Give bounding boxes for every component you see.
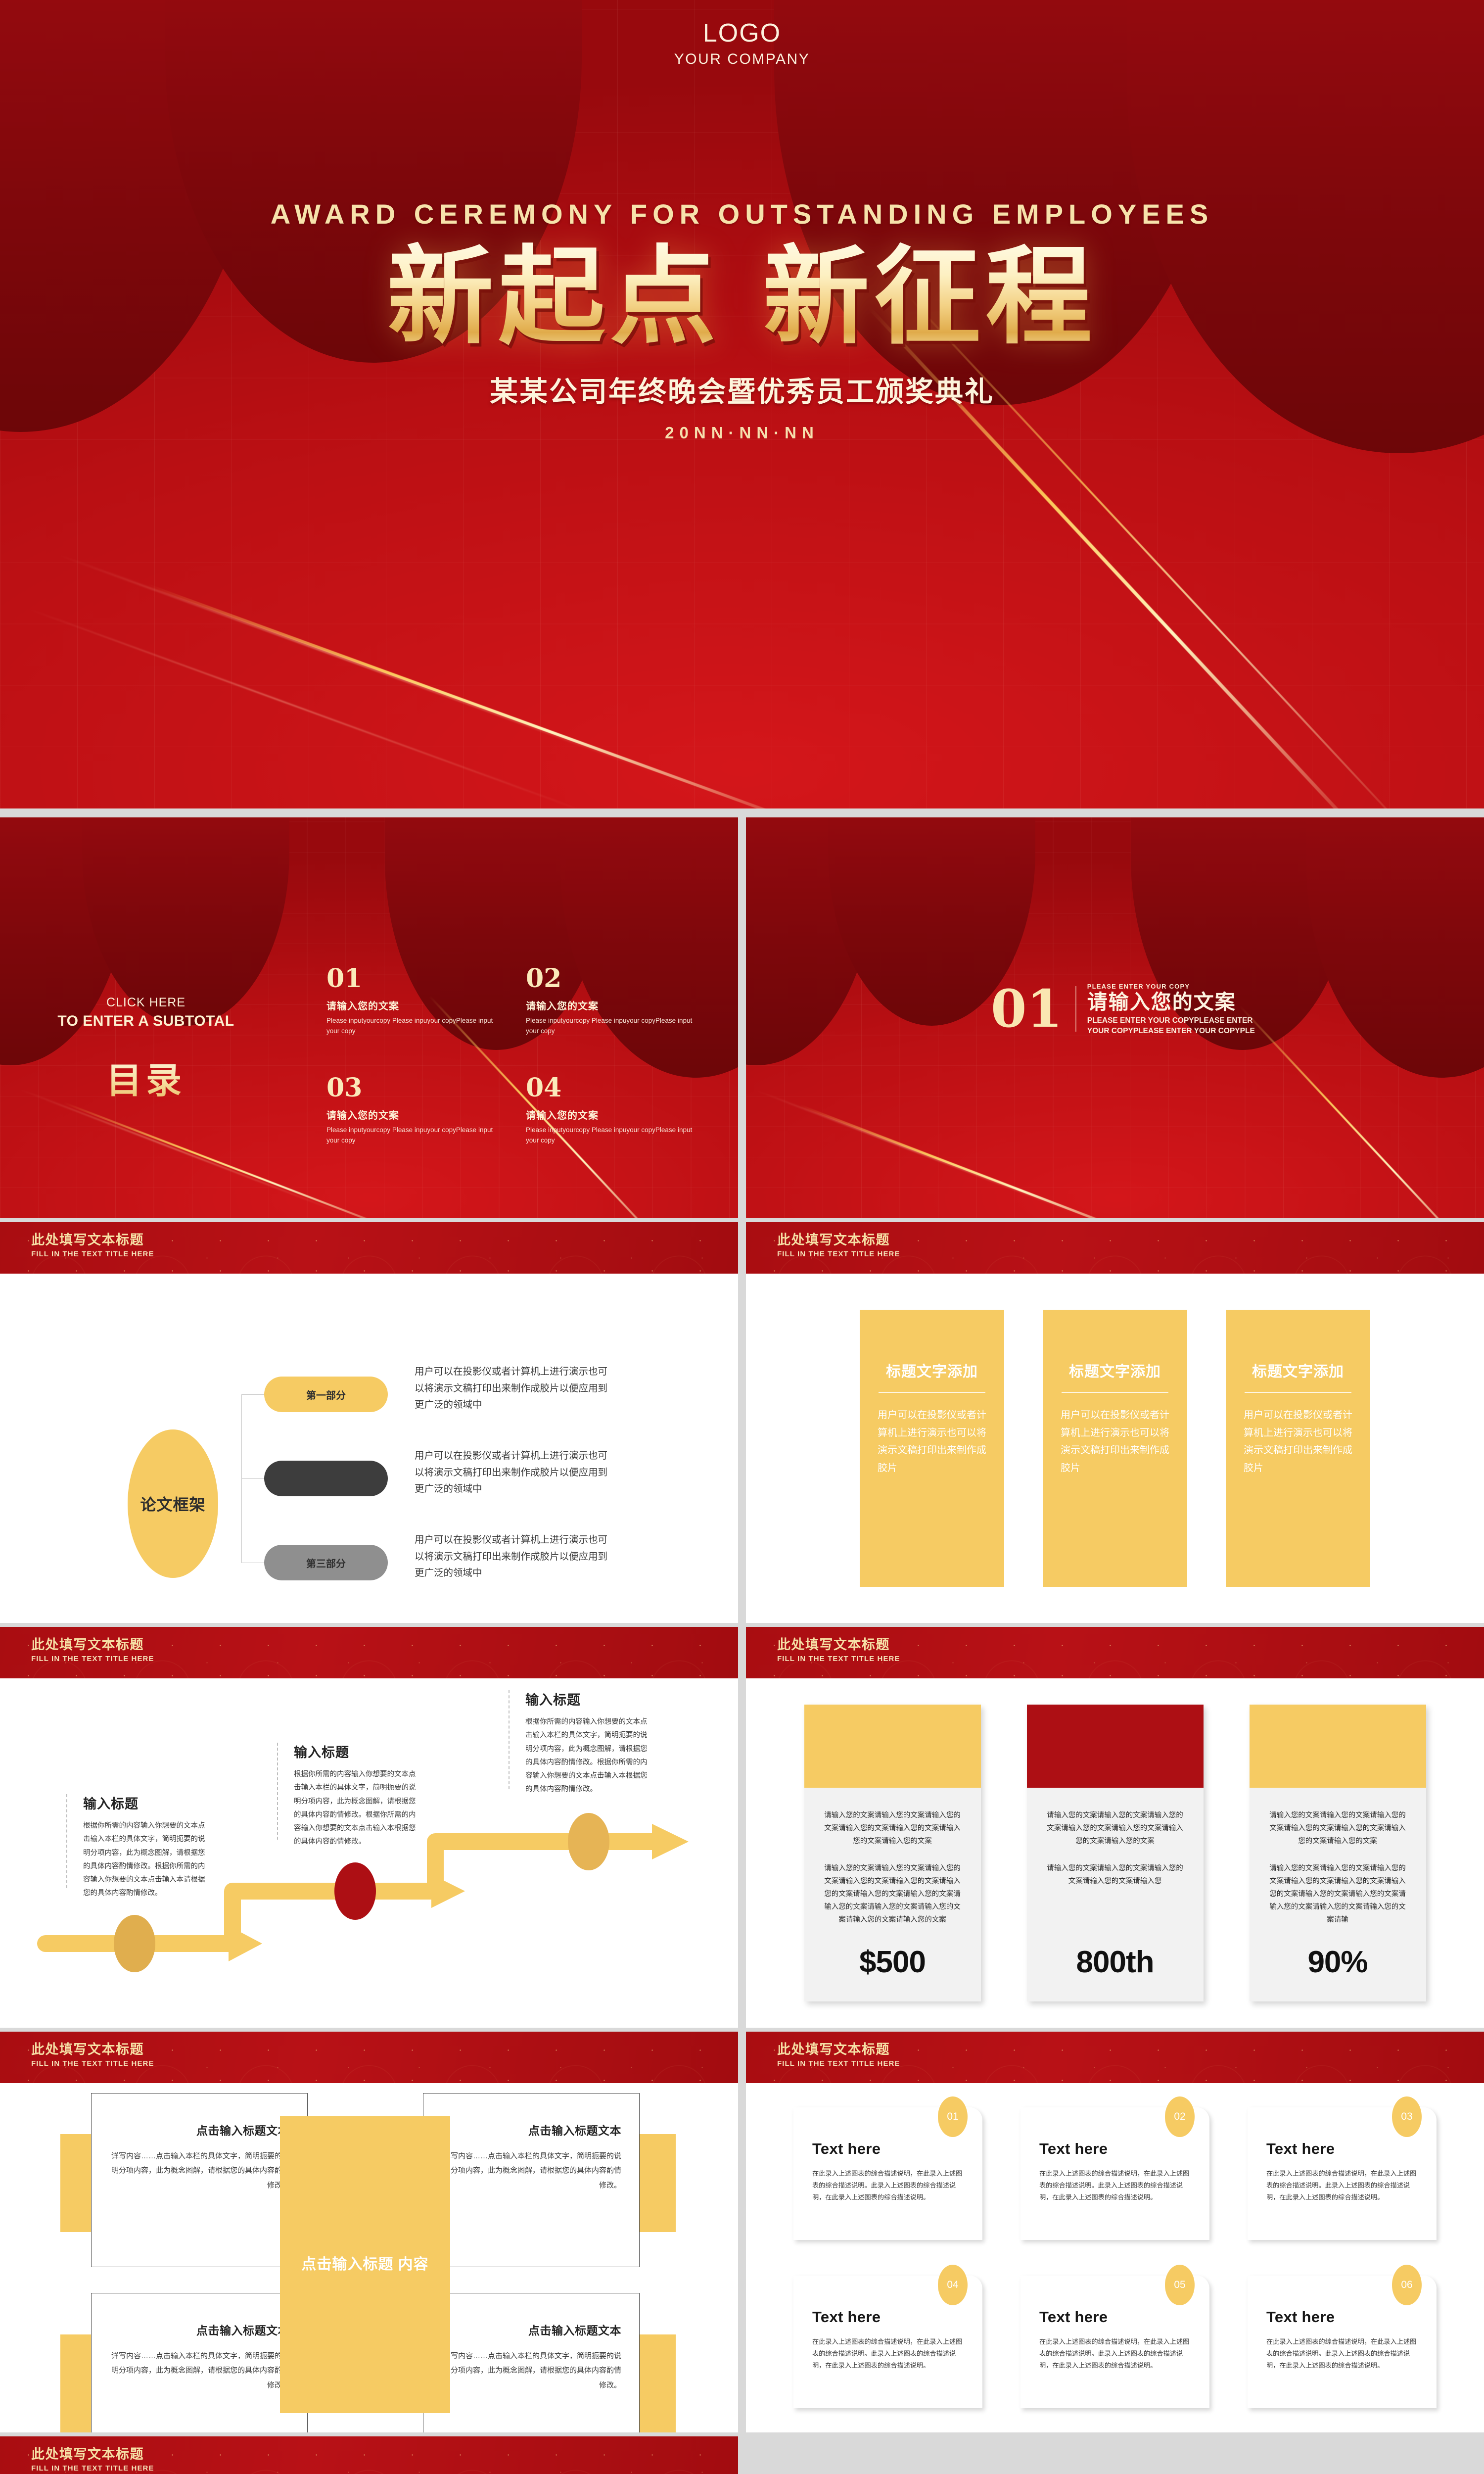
content-header-text: 此处填写文本标题 FILL IN THE TEXT TITLE HERE (31, 1233, 154, 1258)
stat-card-row: 请输入您的文案请输入您的文案请输入您的文案请输入您的文案请输入您的文案请输入您的… (746, 1678, 1484, 2028)
quad-box-body: 详写内容……点击输入本栏的具体文字，简明扼要的说明分项内容，此为概念图解，请根据… (441, 2349, 621, 2392)
quad-box-inner: 点击输入标题文本 详写内容……点击输入本栏的具体文字，简明扼要的说明分项内容，此… (92, 2093, 307, 2267)
stat-card[interactable]: 请输入您的文案请输入您的文案请输入您的文案请输入您的文案请输入您的文案请输入您的… (1027, 1705, 1204, 2001)
toc-item-body: Please inputyourcopy Please inpuyour cop… (326, 1125, 503, 1146)
content-header-text: 此处填写文本标题 FILL IN THE TEXT TITLE HERE (31, 2043, 154, 2068)
step-body: 根据你所需的内容输入你想要的文本点击输入本栏的具体文字，简明扼要的说明分项内容，… (294, 1768, 420, 1849)
step-divider (277, 1743, 278, 1840)
framework-branch-label[interactable]: 第三部分 (264, 1545, 388, 1580)
logo-block: LOGO YOUR COMPANY (0, 20, 1484, 68)
header-title-cn: 此处填写文本标题 (31, 1233, 154, 1248)
content-header-text: 此处填写文本标题 FILL IN THE TEXT TITLE HERE (777, 1233, 900, 1258)
stat-card-cap (1027, 1705, 1204, 1788)
stat-card-body: 请输入您的文案请输入您的文案请输入您的文案请输入您的文案请输入您的文案请输入您的… (1027, 1788, 1204, 1945)
header-title-cn: 此处填写文本标题 (777, 1233, 900, 1248)
quad-box[interactable]: 点击输入标题文本 详写内容……点击输入本栏的具体文字，简明扼要的说明分项内容，此… (91, 2293, 308, 2432)
six-card-grid: 01 Text here 在此录入上述图表的综合描述说明，在此录入上述图表的综合… (746, 2083, 1484, 2432)
quad-box-inner: 点击输入标题文本 详写内容……点击输入本栏的具体文字，简明扼要的说明分项内容，此… (423, 2093, 639, 2267)
slide-stats: 此处填写文本标题 FILL IN THE TEXT TITLE HERE 请输入… (746, 1627, 1484, 2028)
content-header: 此处填写文本标题 FILL IN THE TEXT TITLE HERE (0, 1627, 738, 1678)
quad-box-heading: 点击输入标题文本 (441, 2321, 621, 2338)
step-item[interactable]: 输入标题 根据你所需的内容输入你想要的文本点击输入本栏的具体文字，简明扼要的说明… (83, 1793, 210, 1901)
stat-card-value: $500 (804, 1945, 981, 2001)
toc-item[interactable]: 02 请输入您的文案 Please inputyourcopy Please i… (526, 966, 702, 1037)
toc-item-heading: 请输入您的文案 (326, 998, 503, 1012)
step-body: 根据你所需的内容输入你想要的文本点击输入本栏的具体文字，简明扼要的说明分项内容，… (525, 1715, 652, 1797)
step-heading: 输入标题 (83, 1793, 210, 1812)
framework-center[interactable]: 论文框架 (128, 1429, 218, 1578)
title-headline: 新起点 新征程 (0, 237, 1484, 356)
header-title-en: FILL IN THE TEXT TITLE HERE (31, 2059, 154, 2068)
divider-row: 01 PLEASE ENTER YOUR COPY 请输入您的文案 PLEASE… (991, 982, 1275, 1036)
toc-item[interactable]: 04 请输入您的文案 Please inputyourcopy Please i… (526, 1075, 702, 1146)
stat-card-p2: 请输入您的文案请输入您的文案请输入您的文案请输入您的文案请输入您的文案请输入您的… (1266, 1862, 1409, 1926)
quad-box-inner: 点击输入标题文本 详写内容……点击输入本栏的具体文字，简明扼要的说明分项内容，此… (423, 2293, 639, 2432)
title-block: AWARD CEREMONY FOR OUTSTANDING EMPLOYEES… (0, 198, 1484, 442)
stat-card-body: 请输入您的文案请输入您的文案请输入您的文案请输入您的文案请输入您的文案请输入您的… (804, 1788, 981, 1945)
header-title-en: FILL IN THE TEXT TITLE HERE (777, 1250, 900, 1258)
content-header: 此处填写文本标题 FILL IN THE TEXT TITLE HERE (0, 1222, 738, 1274)
toc-item-number: 04 (526, 1075, 702, 1101)
toc-item-number: 02 (526, 966, 702, 992)
slide-framework: 此处填写文本标题 FILL IN THE TEXT TITLE HERE 论文框… (0, 1222, 738, 1623)
gold-card-row: 标题文字添加 用户可以在投影仪或者计算机上进行演示也可以将演示文稿打印出来制作成… (746, 1274, 1484, 1623)
curtain-decoration (746, 817, 1484, 962)
divider-number: 01 (991, 985, 1063, 1033)
info-card-body: 在此录入上述图表的综合描述说明，在此录入上述图表的综合描述说明。此录入上述图表的… (1266, 2168, 1418, 2203)
stat-card-p1: 请输入您的文案请输入您的文案请输入您的文案请输入您的文案请输入您的文案请输入您的… (1044, 1809, 1187, 1848)
toc-item-number: 03 (326, 1075, 503, 1101)
content-header-text: 此处填写文本标题 FILL IN THE TEXT TITLE HERE (777, 2043, 900, 2068)
stat-card[interactable]: 请输入您的文案请输入您的文案请输入您的文案请输入您的文案请输入您的文案请输入您的… (804, 1705, 981, 2001)
quad-box-body: 详写内容……点击输入本栏的具体文字，简明扼要的说明分项内容，此为概念图解，请根据… (441, 2149, 621, 2192)
content-header-text: 此处填写文本标题 FILL IN THE TEXT TITLE HERE (777, 1638, 900, 1663)
framework-branch-desc: 用户可以在投影仪或者计算机上进行演示也可以将演示文稿打印出来制作成胶片以便应用到… (415, 1364, 607, 1414)
divider-english: PLEASE ENTER YOUR COPYPLEASE ENTER YOUR … (1087, 1016, 1275, 1036)
toc-item-heading: 请输入您的文案 (326, 1107, 503, 1122)
header-title-cn: 此处填写文本标题 (31, 1638, 154, 1653)
gold-card-heading: 标题文字添加 (1241, 1359, 1355, 1381)
framework-branch-desc: 用户可以在投影仪或者计算机上进行演示也可以将演示文稿打印出来制作成胶片以便应用到… (415, 1532, 607, 1582)
content-header: 此处填写文本标题 FILL IN THE TEXT TITLE HERE (0, 2436, 738, 2474)
toc-left-block: CLICK HERE TO ENTER A SUBTOTAL 目录 (30, 996, 262, 1103)
framework-branch-label[interactable] (264, 1461, 388, 1496)
toc-item-heading: 请输入您的文案 (526, 1107, 702, 1122)
header-title-en: FILL IN THE TEXT TITLE HERE (31, 1250, 154, 1258)
info-card-heading: Text here (1039, 2140, 1191, 2158)
quad-box-body: 详写内容……点击输入本栏的具体文字，简明扼要的说明分项内容，此为概念图解，请根据… (109, 2149, 289, 2192)
info-card-number: 05 (1165, 2265, 1195, 2305)
info-card-body: 在此录入上述图表的综合描述说明，在此录入上述图表的综合描述说明。此录入上述图表的… (812, 2336, 964, 2371)
gold-card-body: 用户可以在投影仪或者计算机上进行演示也可以将演示文稿打印出来制作成胶片 (875, 1407, 989, 1477)
divider-rule (1075, 986, 1076, 1032)
info-card-body: 在此录入上述图表的综合描述说明，在此录入上述图表的综合描述说明。此录入上述图表的… (812, 2168, 964, 2203)
info-card-heading: Text here (1039, 2308, 1191, 2326)
gold-card-heading: 标题文字添加 (1058, 1359, 1172, 1381)
framework-branch-desc: 用户可以在投影仪或者计算机上进行演示也可以将演示文稿打印出来制作成胶片以便应用到… (415, 1448, 607, 1498)
title-date: 20NN·NN·NN (0, 424, 1484, 442)
title-subtitle: 某某公司年终晚会暨优秀员工颁奖典礼 (0, 369, 1484, 410)
stat-card-p2: 请输入您的文案请输入您的文案请输入您的文案请输入您的文案请输入您 (1044, 1862, 1187, 1888)
quad-box-heading: 点击输入标题文本 (109, 2321, 289, 2338)
info-card[interactable]: 03 Text here 在此录入上述图表的综合描述说明，在此录入上述图表的综合… (1248, 2107, 1437, 2240)
step-item[interactable]: 输入标题 根据你所需的内容输入你想要的文本点击输入本栏的具体文字，简明扼要的说明… (294, 1742, 420, 1849)
info-card-body: 在此录入上述图表的综合描述说明，在此录入上述图表的综合描述说明。此录入上述图表的… (1039, 2168, 1191, 2203)
info-card-number: 04 (938, 2265, 968, 2305)
info-card-number: 03 (1392, 2096, 1422, 2137)
slide-section-divider: 01 PLEASE ENTER YOUR COPY 请输入您的文案 PLEASE… (746, 817, 1484, 1218)
toc-item[interactable]: 01 请输入您的文案 Please inputyourcopy Please i… (326, 966, 503, 1037)
framework-branch-label[interactable]: 第一部分 (264, 1377, 388, 1412)
step-heading: 输入标题 (525, 1689, 652, 1709)
stat-card-cap (804, 1705, 981, 1788)
info-card-heading: Text here (812, 2140, 964, 2158)
gold-card[interactable]: 标题文字添加 用户可以在投影仪或者计算机上进行演示也可以将演示文稿打印出来制作成… (860, 1310, 1004, 1587)
stat-card-p2: 请输入您的文案请输入您的文案请输入您的文案请输入您的文案请输入您的文案请输入您的… (821, 1862, 964, 1926)
info-card-number: 01 (938, 2096, 968, 2137)
stat-card-p1: 请输入您的文案请输入您的文案请输入您的文案请输入您的文案请输入您的文案请输入您的… (1266, 1809, 1409, 1848)
info-card[interactable]: 06 Text here 在此录入上述图表的综合描述说明，在此录入上述图表的综合… (1248, 2276, 1437, 2408)
steps-diagram: 输入标题 根据你所需的内容输入你想要的文本点击输入本栏的具体文字，简明扼要的说明… (0, 1678, 738, 2028)
info-card-heading: Text here (1266, 2308, 1418, 2326)
header-title-en: FILL IN THE TEXT TITLE HERE (777, 1655, 900, 1663)
gold-card[interactable]: 标题文字添加 用户可以在投影仪或者计算机上进行演示也可以将演示文稿打印出来制作成… (1043, 1310, 1187, 1587)
quad-diagram: 点击输入标题文本 详写内容……点击输入本栏的具体文字，简明扼要的说明分项内容，此… (0, 2083, 738, 2432)
toc-item-body: Please inputyourcopy Please inpuyour cop… (526, 1125, 702, 1146)
gold-card-heading: 标题文字添加 (875, 1359, 989, 1381)
toc-click-here: CLICK HERE (30, 996, 262, 1010)
quad-box[interactable]: 点击输入标题文本 详写内容……点击输入本栏的具体文字，简明扼要的说明分项内容，此… (423, 2093, 640, 2267)
slide-deck-preview: LOGO YOUR COMPANY AWARD CEREMONY FOR OUT… (0, 0, 1484, 2474)
stat-card-value: 90% (1250, 1945, 1426, 2001)
gold-card-body: 用户可以在投影仪或者计算机上进行演示也可以将演示文稿打印出来制作成胶片 (1241, 1407, 1355, 1477)
info-card[interactable]: 01 Text here 在此录入上述图表的综合描述说明，在此录入上述图表的综合… (793, 2107, 982, 2240)
content-header: 此处填写文本标题 FILL IN THE TEXT TITLE HERE (746, 2032, 1484, 2083)
stat-card-cap (1250, 1705, 1426, 1788)
stat-card[interactable]: 请输入您的文案请输入您的文案请输入您的文案请输入您的文案请输入您的文案请输入您的… (1250, 1705, 1426, 2001)
content-header-text: 此处填写文本标题 FILL IN THE TEXT TITLE HERE (31, 1638, 154, 1663)
gold-card-rule (1062, 1392, 1168, 1393)
slide-tags-photo: 此处填写文本标题 FILL IN THE TEXT TITLE HERE ser… (0, 2436, 738, 2474)
slide-quad-boxes: 此处填写文本标题 FILL IN THE TEXT TITLE HERE 点击输… (0, 2032, 738, 2432)
info-card-heading: Text here (812, 2308, 964, 2326)
slide-title: LOGO YOUR COMPANY AWARD CEREMONY FOR OUT… (0, 0, 1484, 809)
gold-card-rule (1245, 1392, 1351, 1393)
info-card-number: 02 (1165, 2096, 1195, 2137)
toc-item-number: 01 (326, 966, 503, 992)
quad-center[interactable]: 点击输入标题 内容 (280, 2116, 450, 2413)
divider-kicker: PLEASE ENTER YOUR COPY (1087, 983, 1275, 990)
info-card[interactable]: 04 Text here 在此录入上述图表的综合描述说明，在此录入上述图表的综合… (793, 2276, 982, 2408)
step-divider (509, 1690, 510, 1789)
title-eyebrow: AWARD CEREMONY FOR OUTSTANDING EMPLOYEES (0, 198, 1484, 230)
quad-box-inner: 点击输入标题文本 详写内容……点击输入本栏的具体文字，简明扼要的说明分项内容，此… (92, 2293, 307, 2432)
gold-card-rule (879, 1392, 985, 1393)
toc-items: 01 请输入您的文案 Please inputyourcopy Please i… (326, 966, 702, 1146)
toc-catalog-title: 目录 (30, 1051, 262, 1103)
step-heading: 输入标题 (294, 1742, 420, 1761)
slide-gold-cards: 此处填写文本标题 FILL IN THE TEXT TITLE HERE 标题文… (746, 1222, 1484, 1623)
toc-item-body: Please inputyourcopy Please inpuyour cop… (326, 1016, 503, 1037)
gold-card[interactable]: 标题文字添加 用户可以在投影仪或者计算机上进行演示也可以将演示文稿打印出来制作成… (1226, 1310, 1370, 1587)
step-item[interactable]: 输入标题 根据你所需的内容输入你想要的文本点击输入本栏的具体文字，简明扼要的说明… (525, 1689, 652, 1797)
curtain-decoration (0, 817, 738, 962)
content-header: 此处填写文本标题 FILL IN THE TEXT TITLE HERE (0, 2032, 738, 2083)
content-header: 此处填写文本标题 FILL IN THE TEXT TITLE HERE (746, 1222, 1484, 1274)
header-title-cn: 此处填写文本标题 (31, 2447, 154, 2462)
quad-box[interactable]: 点击输入标题文本 详写内容……点击输入本栏的具体文字，简明扼要的说明分项内容，此… (423, 2293, 640, 2432)
divider-heading: 请输入您的文案 (1087, 991, 1275, 1013)
quad-box-heading: 点击输入标题文本 (109, 2121, 289, 2138)
stat-card-p1: 请输入您的文案请输入您的文案请输入您的文案请输入您的文案请输入您的文案请输入您的… (821, 1809, 964, 1848)
logo-text: LOGO (0, 20, 1484, 47)
step-divider (66, 1794, 67, 1888)
quad-box[interactable]: 点击输入标题文本 详写内容……点击输入本栏的具体文字，简明扼要的说明分项内容，此… (91, 2093, 308, 2267)
info-card-number: 06 (1392, 2265, 1422, 2305)
header-title-cn: 此处填写文本标题 (777, 1638, 900, 1653)
divider-text: PLEASE ENTER YOUR COPY 请输入您的文案 PLEASE EN… (1087, 982, 1275, 1036)
quad-box-body: 详写内容……点击输入本栏的具体文字，简明扼要的说明分项内容，此为概念图解，请根据… (109, 2349, 289, 2392)
stat-card-body: 请输入您的文案请输入您的文案请输入您的文案请输入您的文案请输入您的文案请输入您的… (1250, 1788, 1426, 1945)
info-card[interactable]: 02 Text here 在此录入上述图表的综合描述说明，在此录入上述图表的综合… (1020, 2107, 1209, 2240)
header-title-en: FILL IN THE TEXT TITLE HERE (31, 1655, 154, 1663)
framework-diagram: 论文框架 第一部分 第三部分 用户可以在投影仪或者计算机上进行演示也可以将演示文… (0, 1274, 738, 1623)
header-title-cn: 此处填写文本标题 (31, 2043, 154, 2057)
company-text: YOUR COMPANY (0, 51, 1484, 68)
toc-subtotal: TO ENTER A SUBTOTAL (30, 1013, 262, 1030)
toc-item-heading: 请输入您的文案 (526, 998, 702, 1012)
header-title-cn: 此处填写文本标题 (777, 2043, 900, 2057)
content-header-text: 此处填写文本标题 FILL IN THE TEXT TITLE HERE (31, 2447, 154, 2473)
slide-steps: 此处填写文本标题 FILL IN THE TEXT TITLE HERE 输入标… (0, 1627, 738, 2028)
info-card-body: 在此录入上述图表的综合描述说明，在此录入上述图表的综合描述说明。此录入上述图表的… (1039, 2336, 1191, 2371)
header-title-en: FILL IN THE TEXT TITLE HERE (31, 2464, 154, 2473)
toc-item-body: Please inputyourcopy Please inpuyour cop… (526, 1016, 702, 1037)
info-card-heading: Text here (1266, 2140, 1418, 2158)
slide-six-cards: 此处填写文本标题 FILL IN THE TEXT TITLE HERE 01 … (746, 2032, 1484, 2432)
info-card[interactable]: 05 Text here 在此录入上述图表的综合描述说明，在此录入上述图表的综合… (1020, 2276, 1209, 2408)
stat-card-value: 800th (1027, 1945, 1204, 2001)
step-body: 根据你所需的内容输入你想要的文本点击输入本栏的具体文字，简明扼要的说明分项内容，… (83, 1819, 210, 1901)
toc-item[interactable]: 03 请输入您的文案 Please inputyourcopy Please i… (326, 1075, 503, 1146)
header-title-en: FILL IN THE TEXT TITLE HERE (777, 2059, 900, 2068)
quad-box-heading: 点击输入标题文本 (441, 2121, 621, 2138)
content-header: 此处填写文本标题 FILL IN THE TEXT TITLE HERE (746, 1627, 1484, 1678)
info-card-body: 在此录入上述图表的综合描述说明，在此录入上述图表的综合描述说明。此录入上述图表的… (1266, 2336, 1418, 2371)
slide-table-of-contents: CLICK HERE TO ENTER A SUBTOTAL 目录 01 请输入… (0, 817, 738, 1218)
gold-card-body: 用户可以在投影仪或者计算机上进行演示也可以将演示文稿打印出来制作成胶片 (1058, 1407, 1172, 1477)
